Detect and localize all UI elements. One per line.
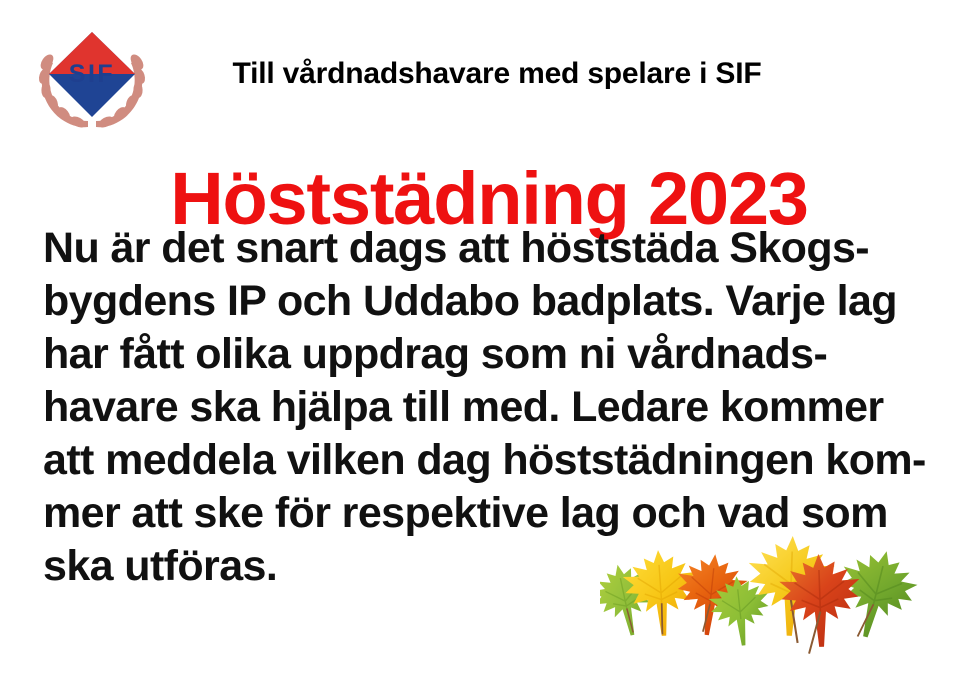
body-line-3: har fått olika uppdrag som ni vårdnads- bbox=[43, 328, 913, 381]
poster-subtitle: Till vårdnadshavare med spelare i SIF bbox=[0, 57, 960, 91]
body-line-2: bygdens IP och Uddabo badplats. Varje la… bbox=[43, 275, 913, 328]
body-line-5: att meddela vilken dag höststädningen ko… bbox=[43, 434, 913, 487]
poster-canvas: SIF Till vårdnadshavare med spelare i SI… bbox=[0, 0, 960, 679]
body-line-1: Nu är det snart dags att höststäda Skogs… bbox=[43, 222, 913, 275]
autumn-maple-leaves-graphic bbox=[600, 528, 950, 679]
body-line-4: havare ska hjälpa till med. Ledare komme… bbox=[43, 381, 913, 434]
